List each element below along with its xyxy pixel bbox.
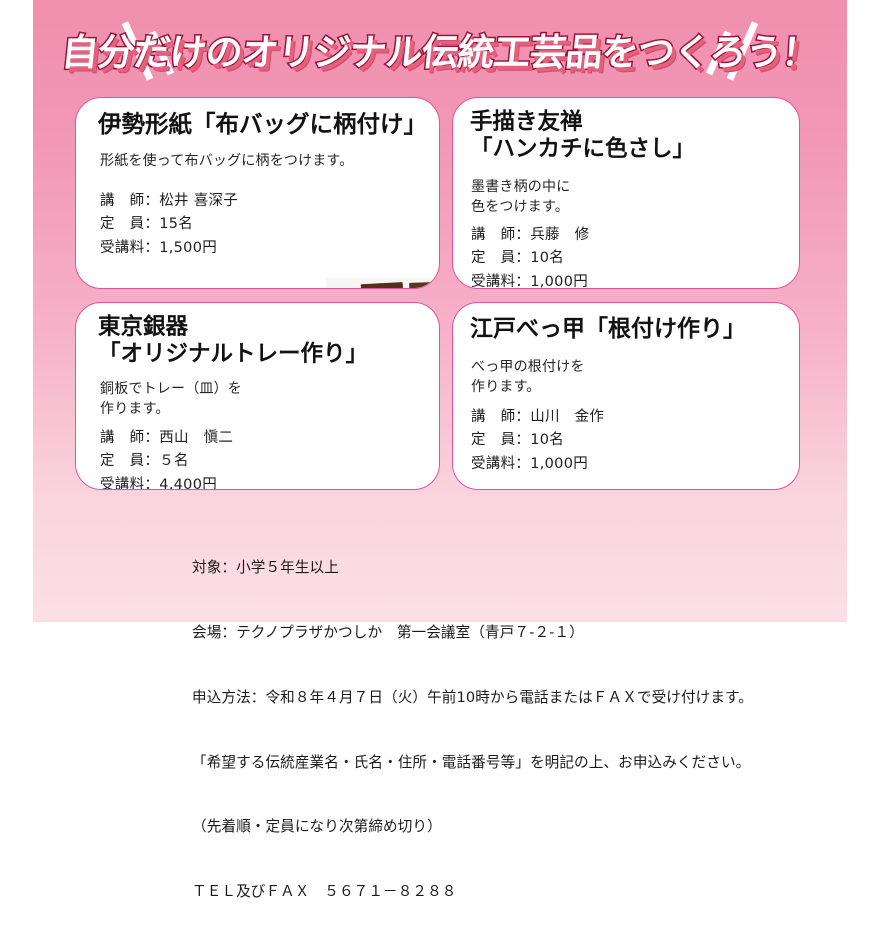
workshop-card-ise-katagami[interactable]: 伊勢形紙「布バッグに柄付け」 形紙を使って布バッグに柄をつけます。 講 師：松井…: [75, 97, 440, 289]
card-details: 講 師：山川 金作 定 員：10名 受講料：1,000円: [471, 406, 604, 476]
workshop-card-edo-bekko[interactable]: 江戸べっ甲「根付け作り」 べっ甲の根付けを 作ります。 講 師：山川 金作 定 …: [452, 302, 800, 490]
card-description: 銅板でトレー（皿）を 作ります。: [100, 379, 242, 420]
instructor-value: 山川 金作: [530, 409, 604, 425]
fee-label: 受講料：: [100, 237, 159, 260]
card-description: 形紙を使って布バッグに柄をつけます。: [100, 151, 354, 171]
card-details: 講 師：西山 愼二 定 員：５名 受講料：4,400円: [100, 427, 233, 490]
capacity-label: 定 員：: [471, 429, 530, 452]
fee-label: 受講料：: [471, 271, 530, 289]
card-details: 講 師：兵藤 修 定 員：10名 受講料：1,000円: [471, 224, 589, 289]
instructor-value: 西山 愼二: [159, 430, 233, 446]
instructor-value: 松井 喜深子: [159, 193, 238, 209]
instructor-label: 講 師：: [471, 224, 530, 247]
fee-value: 1,000円: [530, 456, 588, 472]
instructor-label: 講 師：: [471, 406, 530, 429]
title-banner: 自分だけのオリジナル伝統工芸品をつくろう！: [33, 16, 847, 88]
fee-label: 受講料：: [100, 474, 159, 490]
footer-application-line: 申込方法：令和８年４月７日（火）午前10時から電話またはＦＡＸで受け付けます。: [192, 687, 753, 709]
footer-venue-line: 会場：テクノプラザかつしか 第一会議室（青戸７-２-１）: [192, 622, 753, 644]
instructor-label: 講 師：: [100, 427, 159, 450]
workshop-card-tegaki-yuzen[interactable]: 手描き友禅 「ハンカチに色さし」 墨書き柄の中に 色をつけます。 講 師：兵藤 …: [452, 97, 800, 289]
card-photo: [326, 278, 440, 289]
footer-target-line: 対象：小学５年生以上: [192, 557, 753, 579]
card-title: 江戸べっ甲「根付け作り」: [470, 316, 746, 343]
card-description: 墨書き柄の中に 色をつけます。: [471, 177, 570, 218]
card-title: 手描き友禅 「ハンカチに色さし」: [470, 109, 695, 162]
footer-note-line: （先着順・定員になり次第締め切り）: [192, 816, 753, 838]
instructor-value: 兵藤 修: [530, 227, 589, 243]
capacity-value: 10名: [530, 250, 564, 266]
card-description: べっ甲の根付けを 作ります。: [471, 357, 585, 398]
fee-label: 受講料：: [471, 453, 530, 476]
capacity-label: 定 員：: [100, 450, 159, 473]
card-title: 伊勢形紙「布バッグに柄付け」: [98, 111, 427, 139]
fee-value: 1,000円: [530, 274, 588, 289]
footer-contact-line: ＴＥＬ及びＦＡＸ ５６７１－８２８８: [192, 881, 753, 903]
card-details: 講 師：松井 喜深子 定 員：15名 受講料：1,500円: [100, 190, 238, 260]
poster-root: 自分だけのオリジナル伝統工芸品をつくろう！ 伊勢形紙「布バッグに柄付け」 形紙を…: [0, 0, 880, 622]
page-title: 自分だけのオリジナル伝統工芸品をつくろう！: [30, 22, 850, 76]
capacity-label: 定 員：: [100, 213, 159, 236]
capacity-value: 10名: [530, 432, 564, 448]
workshop-card-tokyo-ginki[interactable]: 東京銀器 「オリジナルトレー作り」 銅板でトレー（皿）を 作ります。 講 師：西…: [75, 302, 440, 490]
capacity-value: 15名: [159, 216, 193, 232]
card-title: 東京銀器 「オリジナルトレー作り」: [98, 314, 368, 367]
fee-value: 4,400円: [159, 477, 217, 490]
footer-info: 対象：小学５年生以上 会場：テクノプラザかつしか 第一会議室（青戸７-２-１） …: [192, 514, 753, 946]
capacity-label: 定 員：: [471, 247, 530, 270]
footer-required-info-line: 「希望する伝統産業名・氏名・住所・電話番号等」を明記の上、お申込みください。: [192, 752, 753, 774]
capacity-value: ５名: [159, 453, 189, 469]
instructor-label: 講 師：: [100, 190, 159, 213]
fee-value: 1,500円: [159, 240, 217, 256]
